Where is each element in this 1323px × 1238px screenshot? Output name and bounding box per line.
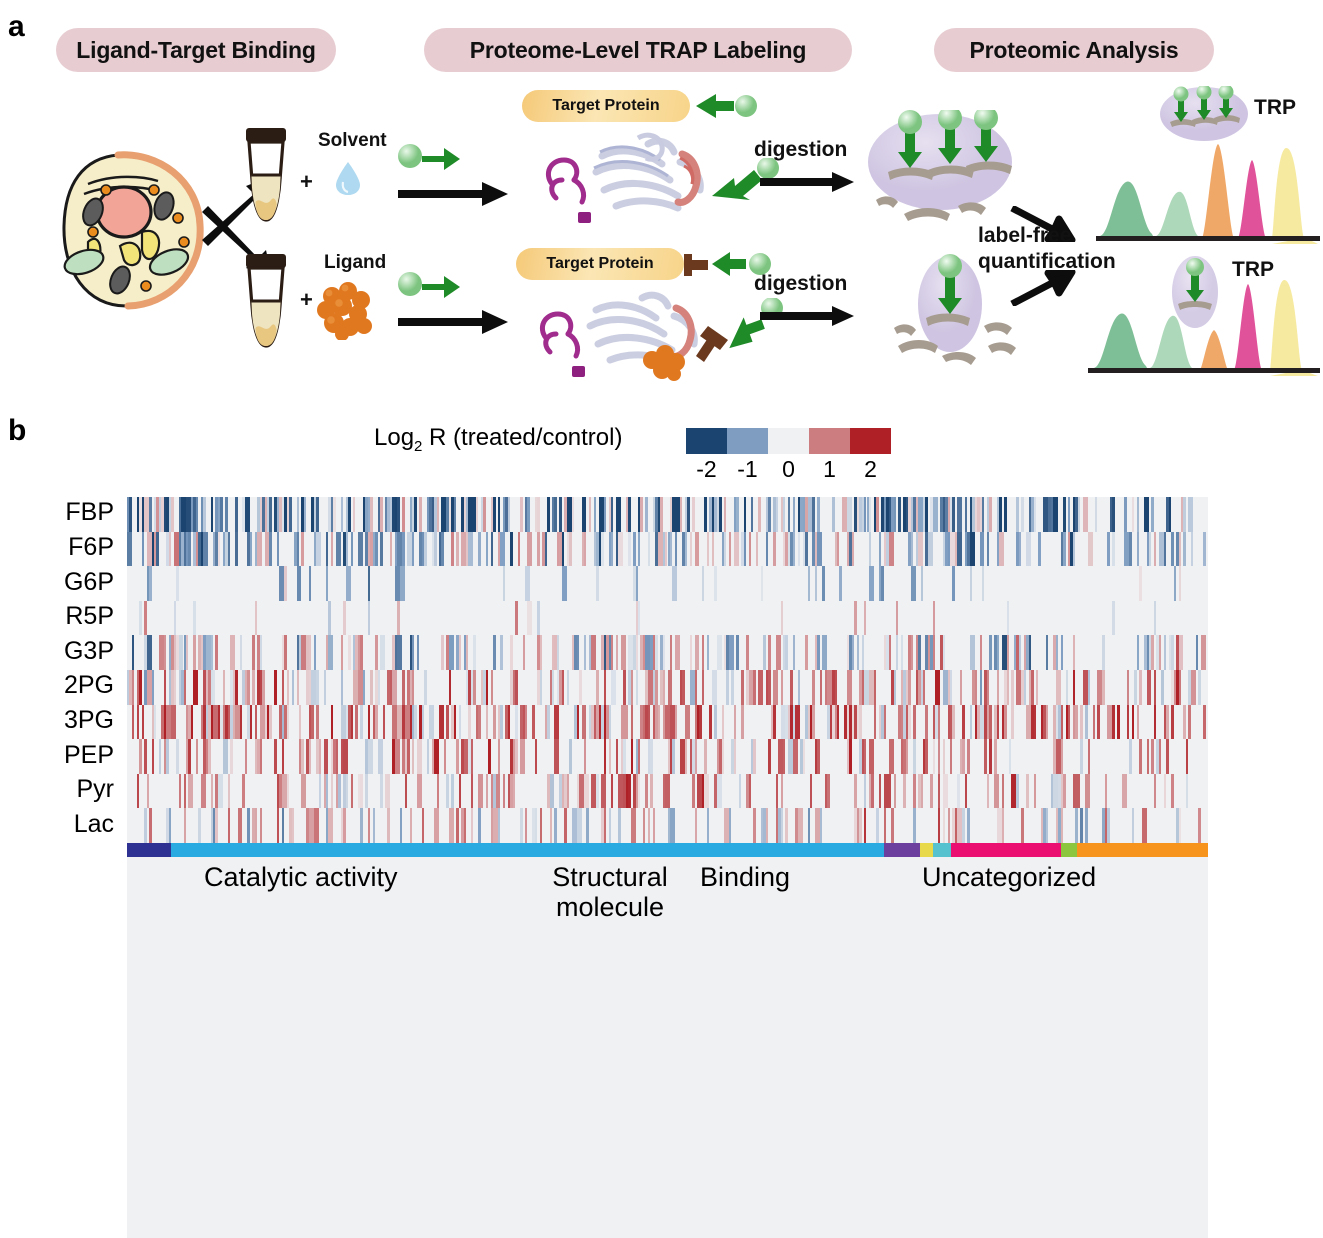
heatmap-cell <box>527 497 529 532</box>
heatmap-cell <box>670 532 672 567</box>
heatmap-cell <box>712 532 714 567</box>
heatmap-cell <box>360 808 362 843</box>
heatmap-cell <box>225 497 227 532</box>
heatmap-cell <box>557 635 559 670</box>
heatmap-cell <box>360 705 362 740</box>
heatmap-cell <box>476 497 478 532</box>
category-segment-catalytic-activity <box>171 843 883 857</box>
heatmap-cell <box>193 635 195 670</box>
heatmap-cell <box>328 808 333 843</box>
heatmap-cell <box>414 497 416 532</box>
heatmap-cell <box>498 497 500 532</box>
heatmap-cell <box>562 566 567 601</box>
digestion-arrow-top-icon <box>760 172 856 192</box>
heatmap-cell <box>1117 705 1119 740</box>
heatmap-cell <box>638 532 640 567</box>
heatmap-cell <box>859 808 861 843</box>
heatmap-cell <box>228 532 230 567</box>
heatmap-cell <box>567 670 569 705</box>
heatmap-cell <box>508 497 510 532</box>
heatmap-cell <box>817 497 819 532</box>
heatmap-cell <box>776 497 778 532</box>
heatmap-cell <box>628 774 630 809</box>
heatmap-row-3pg <box>127 705 1208 740</box>
heatmap-cell <box>1038 532 1040 567</box>
heatmap-cell <box>417 635 419 670</box>
heatmap-cell <box>211 774 213 809</box>
heatmap-cell <box>255 808 257 843</box>
heatmap-cell <box>515 705 517 740</box>
heatmap-cell <box>174 670 176 705</box>
heatmap-cell <box>211 635 213 670</box>
heatmap-cell <box>812 670 814 705</box>
heatmap-cell <box>375 635 377 670</box>
heatmap-cell <box>179 774 181 809</box>
heatmap-cell <box>631 739 633 774</box>
heatmap-cell <box>552 670 554 705</box>
heatmap-cell <box>1137 705 1139 740</box>
heatmap-cell <box>591 635 596 670</box>
heatmap-cell <box>203 532 208 567</box>
heatmap-cell <box>795 705 800 740</box>
heatmap-cell <box>1088 532 1093 567</box>
heatmap-cell <box>412 635 414 670</box>
heatmap-cell <box>1198 670 1200 705</box>
heatmap-cell <box>803 739 805 774</box>
heatmap-cell <box>820 670 822 705</box>
heatmap-cell <box>1075 808 1077 843</box>
heatmap-cell <box>967 739 969 774</box>
heatmap-cell <box>149 497 151 532</box>
heatmap-cell <box>928 532 933 567</box>
heatmap-cell <box>513 774 515 809</box>
heatmap-cell <box>690 635 692 670</box>
heatmap-cell <box>724 532 726 567</box>
heatmap-cell <box>137 705 139 740</box>
heatmap-cell <box>864 601 866 636</box>
heatmap-cell <box>869 739 874 774</box>
colorbar-tick-4: 2 <box>850 456 891 483</box>
heatmap-cell <box>810 774 812 809</box>
heatmap-cell <box>127 532 132 567</box>
heatmap-cell <box>525 808 527 843</box>
heatmap-cell <box>722 705 724 740</box>
row-label-r5p: R5P <box>0 604 114 629</box>
structural-molecule-line1: Structural <box>552 862 668 892</box>
heatmap-cell <box>309 566 311 601</box>
heatmap-cell <box>188 532 190 567</box>
heatmap-cell <box>1085 774 1090 809</box>
heatmap-cell <box>584 532 586 567</box>
heatmap-cell <box>1007 635 1009 670</box>
heatmap-cell <box>925 497 927 532</box>
heatmap-cell <box>756 532 758 567</box>
heatmap-cell <box>908 670 910 705</box>
heatmap-row-lac <box>127 808 1208 843</box>
heatmap-cell <box>184 774 186 809</box>
heatmap-cell <box>680 497 682 532</box>
heatmap-cell <box>736 635 738 670</box>
heatmap-cell <box>171 705 176 740</box>
heatmap-cell <box>188 774 193 809</box>
heatmap-cell <box>252 635 254 670</box>
heatmap-cell <box>1164 774 1166 809</box>
heatmap-cell <box>1151 497 1153 532</box>
heatmap-cell <box>1011 670 1013 705</box>
heatmap-cell <box>933 635 935 670</box>
heatmap-cell <box>1102 670 1104 705</box>
heatmap-cell <box>948 808 950 843</box>
heatmap-cell <box>316 497 318 532</box>
catalytic-activity-label: Catalytic activity <box>204 862 398 892</box>
heatmap-cell <box>459 774 461 809</box>
heatmap-cell <box>230 739 232 774</box>
heatmap-cell <box>714 705 716 740</box>
heatmap-cell <box>1061 635 1063 670</box>
heatmap-cell <box>132 635 134 670</box>
heatmap-cell <box>881 566 883 601</box>
heatmap-cell <box>631 670 633 705</box>
heatmap-cell <box>1183 497 1185 532</box>
heatmap-cell <box>1188 497 1193 532</box>
heatmap-cell <box>208 739 210 774</box>
heatmap-cell <box>960 670 962 705</box>
heatmap-cell <box>903 774 905 809</box>
heatmap-cell <box>478 808 480 843</box>
heatmap-cell <box>957 774 959 809</box>
heatmap-cell <box>301 739 303 774</box>
heatmap-cell <box>1088 670 1090 705</box>
heatmap-cell <box>348 635 350 670</box>
heatmap-cell <box>1112 601 1114 636</box>
heatmap-cell <box>997 705 999 740</box>
heatmap-cell <box>287 705 289 740</box>
heatmap-cell <box>1186 774 1188 809</box>
heatmap-cell <box>889 532 894 567</box>
heatmap-cell <box>547 497 549 532</box>
heatmap-cell <box>550 808 552 843</box>
heatmap-row-r5p <box>127 601 1208 636</box>
heatmap-cell <box>454 497 456 532</box>
heatmap-row-2pg <box>127 670 1208 705</box>
heatmap-cell <box>638 739 640 774</box>
heatmap-cell <box>923 670 925 705</box>
heatmap-cell <box>876 808 878 843</box>
heatmap-cell <box>812 705 814 740</box>
heatmap-cell <box>373 808 375 843</box>
heatmap-cell <box>1151 635 1153 670</box>
heatmap-cell <box>540 670 542 705</box>
target-protein-pill-bottom: Target Protein <box>516 248 684 280</box>
heatmap-cell <box>839 566 841 601</box>
heatmap-cell <box>987 532 989 567</box>
heatmap-cell <box>456 808 458 843</box>
heatmap-cell <box>282 739 284 774</box>
heatmap-cell <box>670 808 675 843</box>
heatmap-cell <box>309 739 311 774</box>
heatmap-cell <box>596 566 598 601</box>
heatmap-cell <box>781 601 783 636</box>
heatmap-cell <box>1147 670 1152 705</box>
heatmap-cell <box>879 774 881 809</box>
heatmap-cell <box>933 739 935 774</box>
heatmap-cell <box>884 705 886 740</box>
colorbar-swatch-0 <box>768 428 809 454</box>
heatmap-cell <box>1085 808 1087 843</box>
heatmap-cell <box>333 497 335 532</box>
heatmap-cell <box>609 705 611 740</box>
heatmap-cell <box>387 774 389 809</box>
heatmap-cell <box>260 808 262 843</box>
heatmap-cell <box>758 670 763 705</box>
row-label-pep: PEP <box>0 743 114 768</box>
heatmap-cell <box>822 566 824 601</box>
heatmap-cell <box>793 739 798 774</box>
heatmap-cell <box>729 808 731 843</box>
heatmap-cell <box>812 497 814 532</box>
heatmap-cell <box>503 566 505 601</box>
heatmap-cell <box>1095 497 1097 532</box>
heatmap-cell <box>567 774 569 809</box>
heatmap-cell <box>471 774 473 809</box>
heatmap-cell <box>174 601 176 636</box>
heatmap-cell <box>277 808 279 843</box>
heatmap-cell <box>1073 670 1075 705</box>
heatmap-cell <box>1063 532 1065 567</box>
heatmap-cell <box>618 808 620 843</box>
heatmap-cell <box>645 774 647 809</box>
heatmap-cell <box>668 670 673 705</box>
heatmap-cell <box>724 497 726 532</box>
panel-b-letter: b <box>8 416 26 446</box>
heatmap-cell <box>331 532 333 567</box>
heatmap-cell <box>699 705 701 740</box>
heatmap-cell <box>169 808 171 843</box>
heatmap-cell <box>164 635 166 670</box>
heatmap-cell <box>309 635 311 670</box>
heatmap-cell <box>790 670 792 705</box>
heatmap-cell <box>768 739 770 774</box>
heatmap-cell <box>744 497 746 532</box>
heatmap-cell <box>316 705 318 740</box>
heatmap-cell <box>213 670 215 705</box>
heatmap-cell <box>456 532 458 567</box>
heatmap-cell <box>169 532 171 567</box>
tube-ligand-icon <box>238 254 294 350</box>
heatmap-cell <box>943 635 945 670</box>
heatmap-cell <box>989 705 991 740</box>
heatmap-cell <box>933 601 935 636</box>
heatmap-cell <box>319 739 321 774</box>
row-label-lac: Lac <box>0 812 114 837</box>
heatmap-cell <box>1061 808 1063 843</box>
heatmap-cell <box>139 739 141 774</box>
heatmap-cell <box>311 705 313 740</box>
heatmap-cell <box>1112 532 1114 567</box>
heatmap-cell <box>1021 808 1023 843</box>
heatmap-cell <box>523 635 525 670</box>
heatmap-cell <box>896 635 898 670</box>
heatmap-cell <box>1083 497 1088 532</box>
heatmap-cell <box>751 497 753 532</box>
heatmap-cell <box>1026 532 1031 567</box>
heatmap-cell <box>449 670 451 705</box>
heatmap-cell <box>156 532 158 567</box>
heatmap-cell <box>586 808 588 843</box>
labeled-peptides-control <box>862 110 1022 240</box>
heatmap-cell <box>196 497 198 532</box>
heatmap-cell <box>734 739 736 774</box>
heatmap-cell <box>1159 635 1161 670</box>
heatmap-cell <box>402 670 404 705</box>
heatmap-cell <box>1002 808 1004 843</box>
heatmap-cell <box>675 532 677 567</box>
heatmap-cell <box>685 705 690 740</box>
heatmap-cell <box>348 497 350 532</box>
probe-arrow-into-protein-top-icon <box>694 90 758 122</box>
heatmap-cell <box>269 705 271 740</box>
heatmap-cell <box>645 497 647 532</box>
heatmap-cell <box>414 705 416 740</box>
heatmap-cell <box>631 705 633 740</box>
heatmap-cell <box>643 808 645 843</box>
heatmap-cell <box>1026 774 1028 809</box>
heatmap-cell <box>675 635 680 670</box>
heatmap-cell <box>1134 670 1136 705</box>
heatmap-cell <box>695 532 700 567</box>
heatmap-cell <box>228 774 230 809</box>
heatmap-cell <box>894 774 896 809</box>
heatmap-cell <box>685 739 687 774</box>
heatmap-cell <box>874 705 876 740</box>
heatmap-cell <box>889 635 891 670</box>
heatmap-cell <box>242 774 244 809</box>
heatmap-cell <box>918 532 923 567</box>
heatmap-cell <box>341 635 343 670</box>
heatmap-cell <box>336 739 338 774</box>
heatmap-cell <box>355 705 357 740</box>
heatmap-cell <box>235 670 237 705</box>
heatmap-cell <box>820 808 822 843</box>
heatmap-cell <box>493 635 495 670</box>
heatmap-cell <box>975 670 977 705</box>
heatmap-cell <box>434 739 439 774</box>
heatmap-cell <box>935 670 940 705</box>
heatmap-cell <box>247 808 249 843</box>
heatmap-cell <box>260 532 262 567</box>
heatmap-cell <box>768 670 770 705</box>
heatmap-cell <box>346 739 348 774</box>
heatmap-cell <box>368 566 370 601</box>
ligand-label: Ligand <box>324 252 386 273</box>
heatmap-cell <box>159 739 161 774</box>
heatmap-cell <box>913 739 915 774</box>
heatmap-cell <box>400 808 402 843</box>
trp-vesicle-control-icon <box>1158 86 1250 142</box>
heatmap-cell <box>368 705 370 740</box>
heatmap-cell <box>564 808 566 843</box>
heatmap-cell <box>577 808 582 843</box>
heatmap-cell <box>147 635 152 670</box>
heatmap-cell <box>422 705 424 740</box>
heatmap-cell <box>1179 808 1181 843</box>
heatmap-cell <box>798 808 803 843</box>
heatmap-cell <box>692 774 694 809</box>
heatmap-cell <box>785 808 787 843</box>
category-segment-structural-molecule <box>951 843 1061 857</box>
heatmap-cell <box>466 635 468 670</box>
heatmap-cell <box>441 635 443 670</box>
heatmap-cell <box>658 705 660 740</box>
heatmap-cell <box>609 808 611 843</box>
heatmap-cell <box>906 739 908 774</box>
heatmap-cell <box>274 739 276 774</box>
heatmap-cell <box>554 739 559 774</box>
heatmap-row-pep <box>127 739 1208 774</box>
colorbar-swatch-1 <box>809 428 850 454</box>
heatmap-cell <box>446 774 448 809</box>
heatmap-cell <box>154 705 156 740</box>
heatmap-cell <box>943 739 945 774</box>
heatmap-cell <box>400 566 405 601</box>
heatmap-cell <box>184 808 186 843</box>
heatmap-cell <box>387 808 389 843</box>
heatmap-cell <box>250 532 252 567</box>
colorbar-tick-2: 0 <box>768 456 809 483</box>
heatmap-cell <box>220 497 222 532</box>
heatmap-cell <box>1201 635 1206 670</box>
heatmap-cell <box>351 774 353 809</box>
heatmap-cell <box>604 670 606 705</box>
heatmap-cell <box>486 670 488 705</box>
heatmap-cell <box>577 705 579 740</box>
category-segment-antioxidant <box>920 843 933 857</box>
heatmap-cell <box>473 670 475 705</box>
heatmap-cell <box>464 808 466 843</box>
heatmap-cell <box>392 670 397 705</box>
heatmap-cell <box>527 601 532 636</box>
heatmap-cell <box>744 532 746 567</box>
heatmap-cell <box>879 532 881 567</box>
heatmap-cell <box>260 739 262 774</box>
heatmap-cell <box>380 774 382 809</box>
heatmap-cell <box>1093 705 1095 740</box>
heatmap-cell <box>1088 739 1090 774</box>
heatmap-cell <box>537 532 539 567</box>
heatmap-cell <box>781 670 783 705</box>
heatmap-cell <box>471 739 473 774</box>
heatmap-cell <box>510 532 512 567</box>
heatmap-cell <box>260 635 262 670</box>
plus-sign-top: + <box>300 170 313 195</box>
heatmap-cell <box>132 705 134 740</box>
heatmap-cell <box>805 532 807 567</box>
heatmap-cell <box>437 497 439 532</box>
heatmap-cell <box>695 670 697 705</box>
heatmap-cell <box>616 739 618 774</box>
heatmap-cell <box>894 497 896 532</box>
heatmap-cell <box>763 635 765 670</box>
heatmap-cell <box>596 774 598 809</box>
heatmap-cell <box>773 532 775 567</box>
heatmap-cell <box>478 705 480 740</box>
heatmap-cell <box>331 774 333 809</box>
heatmap-cell <box>338 774 340 809</box>
heatmap-cell <box>498 739 500 774</box>
heatmap-cell <box>933 497 938 532</box>
heatmap-cell <box>1046 808 1048 843</box>
heatmap-cell <box>655 635 657 670</box>
